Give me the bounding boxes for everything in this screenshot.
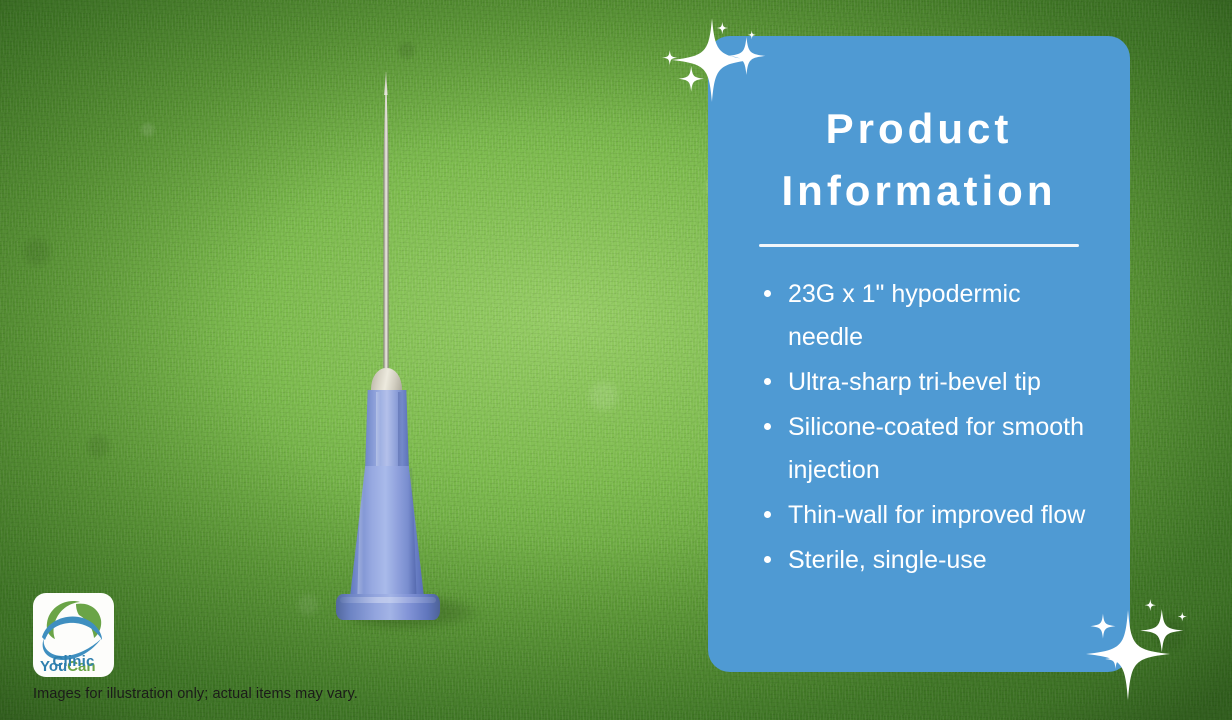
list-item: Ultra-sharp tri-bevel tip xyxy=(760,361,1096,404)
list-item: Sterile, single-use xyxy=(760,539,1096,582)
sparkle-small-left-icon xyxy=(678,66,704,92)
list-item: Thin-wall for improved flow xyxy=(760,494,1096,537)
product-feature-list: 23G x 1" hypodermic needleUltra-sharp tr… xyxy=(708,273,1130,582)
hypodermic-needle-image xyxy=(300,60,490,640)
youcan-clinic-logo: YouCan Clinic xyxy=(33,593,114,677)
sparkle-cluster-bottom-right-icon xyxy=(1078,588,1213,714)
product-information-card: Product Information 23G x 1" hypodermic … xyxy=(708,36,1130,672)
sparkle-tiny-a-icon xyxy=(717,22,729,34)
sparkle-cluster-top-left-icon xyxy=(660,8,790,128)
card-title-divider xyxy=(759,244,1079,247)
sparkle-large-icon xyxy=(1086,610,1170,700)
sparkle-tiny-b-icon xyxy=(747,30,756,39)
sparkle-tiny-b-icon xyxy=(1178,612,1187,622)
card-title-line-2: Information xyxy=(724,160,1114,222)
sparkle-small-upper-icon xyxy=(1090,614,1115,639)
sparkle-medium-icon xyxy=(1140,609,1183,652)
needle-bevel-tip xyxy=(384,69,387,95)
needle-cannula-shaft xyxy=(383,72,389,390)
sparkle-large-icon xyxy=(672,18,752,102)
needle-flange-highlight xyxy=(340,597,436,603)
sparkle-tiny-c-icon xyxy=(662,50,678,65)
list-item: 23G x 1" hypodermic needle xyxy=(760,273,1096,359)
sparkle-tiny-a-icon xyxy=(1145,599,1157,611)
sparkle-medium-icon xyxy=(728,37,766,75)
logo-text-clinic: Clinic xyxy=(33,653,114,670)
disclaimer-text: Images for illustration only; actual ite… xyxy=(33,686,358,702)
list-item: Silicone-coated for smooth injection xyxy=(760,406,1096,492)
slide-canvas: Product Information 23G x 1" hypodermic … xyxy=(0,0,1232,720)
needle-hub-upper xyxy=(365,390,409,472)
needle-hub-ridge-left xyxy=(376,392,380,470)
needle-hub-ridge-right xyxy=(398,392,402,470)
